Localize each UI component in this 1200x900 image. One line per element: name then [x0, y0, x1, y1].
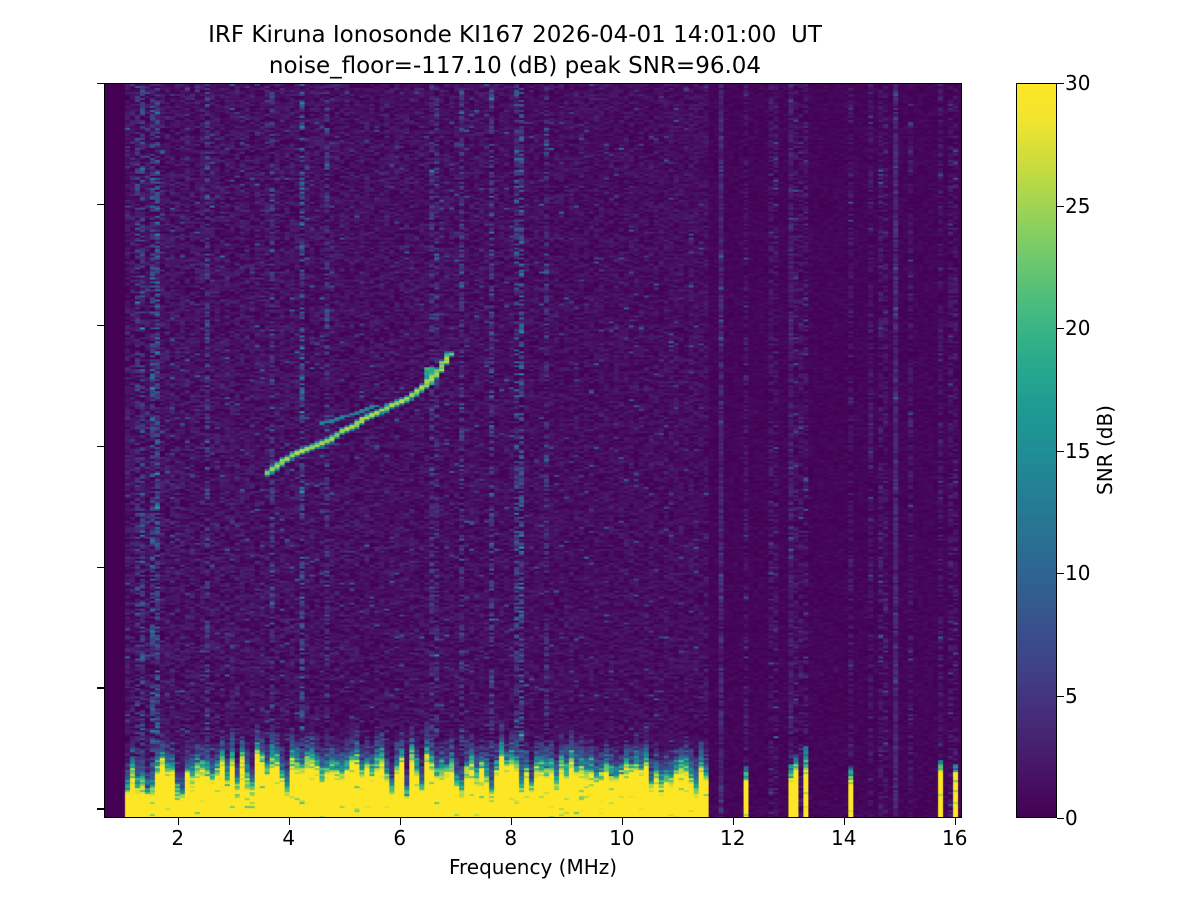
colorbar-tick-mark [1057, 83, 1064, 84]
x-tick-mark [178, 818, 179, 825]
y-tick-mark [97, 446, 104, 447]
ionogram-heatmap-canvas [105, 84, 961, 817]
colorbar-tick-mark [1057, 206, 1064, 207]
x-tick-label: 10 [609, 826, 634, 850]
colorbar-tick-mark [1057, 696, 1064, 697]
ionogram-plot-area[interactable] [104, 83, 962, 818]
colorbar-tick-mark [1057, 328, 1064, 329]
y-tick-mark [97, 687, 104, 688]
y-tick-mark [97, 325, 104, 326]
colorbar-tick-label: 5 [1065, 684, 1078, 708]
colorbar-gradient [1017, 84, 1056, 817]
x-tick-label: 4 [282, 826, 295, 850]
y-tick-mark [97, 567, 104, 568]
colorbar-label: SNR (dB) [1093, 405, 1117, 495]
colorbar-tick-label: 15 [1065, 439, 1090, 463]
x-tick-mark [400, 818, 401, 825]
y-tick-mark [97, 83, 104, 84]
y-tick-mark [97, 204, 104, 205]
figure-title: IRF Kiruna Ionosonde KI167 2026-04-01 14… [0, 20, 1030, 82]
x-tick-label: 16 [942, 826, 967, 850]
ionogram-figure: IRF Kiruna Ionosonde KI167 2026-04-01 14… [0, 0, 1200, 900]
colorbar-tick-mark [1057, 573, 1064, 574]
x-tick-label: 2 [171, 826, 184, 850]
x-tick-label: 12 [720, 826, 745, 850]
title-line-2: noise_floor=-117.10 (dB) peak SNR=96.04 [269, 53, 761, 79]
x-tick-mark [622, 818, 623, 825]
x-tick-mark [511, 818, 512, 825]
colorbar-tick-label: 0 [1065, 806, 1078, 830]
y-tick-mark [97, 808, 104, 809]
x-tick-label: 8 [504, 826, 517, 850]
x-tick-mark [289, 818, 290, 825]
colorbar-tick-mark [1057, 451, 1064, 452]
title-line-1: IRF Kiruna Ionosonde KI167 2026-04-01 14… [208, 22, 822, 48]
x-tick-mark [733, 818, 734, 825]
colorbar-tick-label: 25 [1065, 194, 1090, 218]
colorbar-tick-label: 10 [1065, 561, 1090, 585]
x-tick-mark [844, 818, 845, 825]
colorbar [1016, 83, 1057, 818]
colorbar-tick-mark [1057, 818, 1064, 819]
colorbar-tick-label: 30 [1065, 71, 1090, 95]
x-tick-label: 6 [393, 826, 406, 850]
colorbar-tick-label: 20 [1065, 316, 1090, 340]
x-tick-label: 14 [831, 826, 856, 850]
x-axis-label: Frequency (MHz) [449, 855, 617, 879]
x-tick-mark [955, 818, 956, 825]
